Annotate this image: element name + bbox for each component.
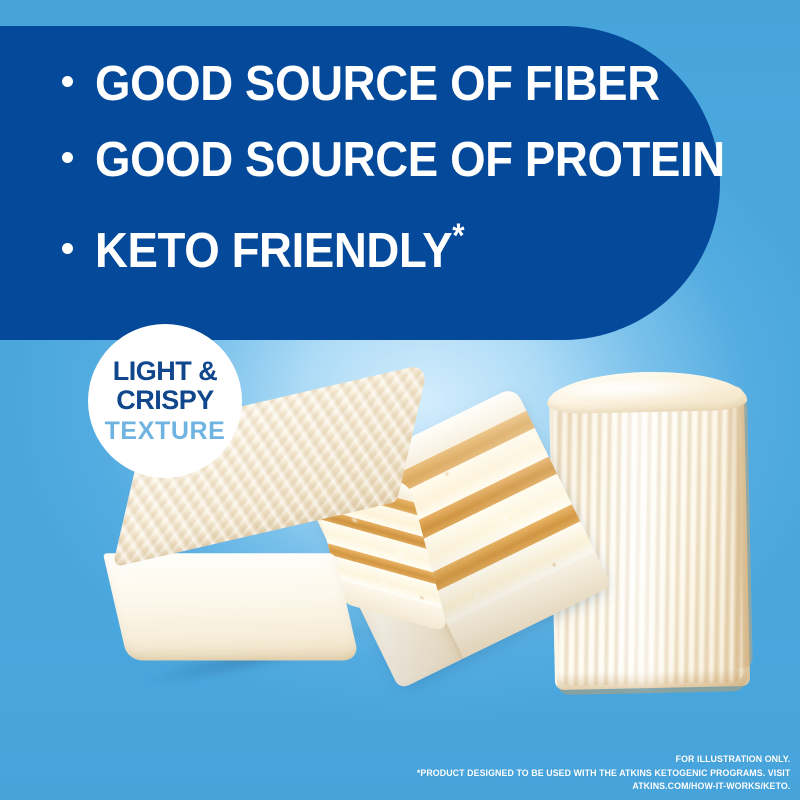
bullet-dot-icon [62, 76, 73, 87]
asterisk-footnote-marker: * [452, 217, 464, 255]
fineprint-line-1: FOR ILLUSTRATION ONLY. [417, 752, 790, 765]
benefit-label-text: KETO FRIENDLY [95, 224, 452, 278]
benefit-label: KETO FRIENDLY* [95, 210, 465, 277]
bullet-dot-icon [62, 243, 73, 254]
wafer-bar-left-front-face [103, 553, 360, 660]
badge-line-2: CRISPY [116, 386, 214, 415]
badge-line-1: LIGHT & [113, 357, 218, 386]
benefit-label: GOOD SOURCE OF PROTEIN [95, 134, 725, 186]
benefits-list: GOOD SOURCE OF FIBER GOOD SOURCE OF PROT… [62, 58, 762, 286]
wafer-bar-right-highlight [607, 394, 672, 685]
benefit-label: GOOD SOURCE OF FIBER [95, 58, 660, 110]
fineprint-disclaimer: FOR ILLUSTRATION ONLY. *PRODUCT DESIGNED… [417, 752, 790, 792]
benefit-item-protein: GOOD SOURCE OF PROTEIN [62, 134, 762, 210]
bullet-dot-icon [62, 152, 73, 163]
fineprint-line-2: *PRODUCT DESIGNED TO BE USED WITH THE AT… [417, 766, 790, 779]
benefit-item-keto: KETO FRIENDLY* [62, 210, 762, 286]
fineprint-line-3: ATKINS.COM/HOW-IT-WORKS/KETO. [417, 779, 790, 792]
light-crispy-texture-badge: LIGHT & CRISPY TEXTURE [88, 324, 242, 478]
badge-line-3: TEXTURE [105, 416, 226, 446]
product-banner: GOOD SOURCE OF FIBER GOOD SOURCE OF PROT… [0, 0, 800, 800]
benefit-item-fiber: GOOD SOURCE OF FIBER [62, 58, 762, 134]
